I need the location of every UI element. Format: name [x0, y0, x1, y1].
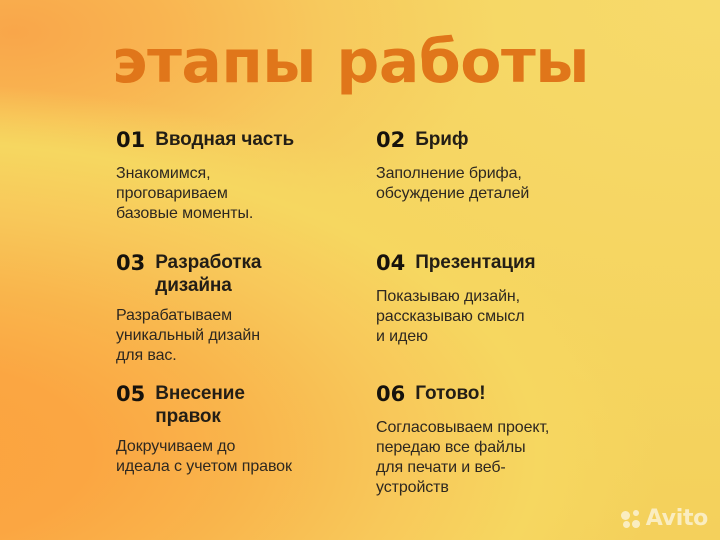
step-number: 01 [116, 128, 145, 153]
step-description: Знакомимся, проговариваем базовые момент… [116, 164, 362, 224]
step-number: 03 [116, 251, 145, 276]
step-item-01: 01 Вводная часть Знакомимся, проговарива… [116, 128, 362, 224]
step-header: 03 Разработка дизайна [116, 251, 362, 297]
step-header: 02 Бриф [376, 128, 622, 153]
page-title: этапы работы [112, 28, 589, 96]
step-number: 02 [376, 128, 405, 153]
step-number: 04 [376, 251, 405, 276]
avito-dots-icon [621, 510, 641, 529]
step-title: Бриф [415, 128, 468, 151]
step-item-04: 04 Презентация Показываю дизайн, рассказ… [376, 251, 622, 347]
step-title: Разработка дизайна [155, 251, 261, 297]
step-description: Разрабатываем уникальный дизайн для вас. [116, 306, 362, 366]
step-title: Внесение правок [155, 382, 245, 428]
step-description: Заполнение брифа, обсуждение деталей [376, 164, 622, 204]
step-description: Показываю дизайн, рассказываю смысл и ид… [376, 287, 622, 347]
step-number: 06 [376, 382, 405, 407]
step-item-06: 06 Готово! Согласовываем проект, передаю… [376, 382, 622, 498]
step-number: 05 [116, 382, 145, 407]
poster-canvas: этапы работы 01 Вводная часть Знакомимся… [0, 0, 720, 540]
step-header: 01 Вводная часть [116, 128, 362, 153]
avito-watermark: Avito [621, 508, 708, 530]
step-title: Вводная часть [155, 128, 294, 151]
step-title: Готово! [415, 382, 485, 405]
steps-grid: 01 Вводная часть Знакомимся, проговарива… [116, 128, 636, 518]
step-item-02: 02 Бриф Заполнение брифа, обсуждение дет… [376, 128, 622, 204]
avito-wordmark: Avito [646, 508, 708, 530]
step-item-05: 05 Внесение правок Докручиваем до идеала… [116, 382, 362, 477]
step-header: 06 Готово! [376, 382, 622, 407]
step-header: 05 Внесение правок [116, 382, 362, 428]
step-header: 04 Презентация [376, 251, 622, 276]
step-item-03: 03 Разработка дизайна Разрабатываем уник… [116, 251, 362, 366]
step-title: Презентация [415, 251, 535, 274]
step-description: Докручиваем до идеала с учетом правок [116, 437, 362, 477]
step-description: Согласовываем проект, передаю все файлы … [376, 418, 622, 498]
